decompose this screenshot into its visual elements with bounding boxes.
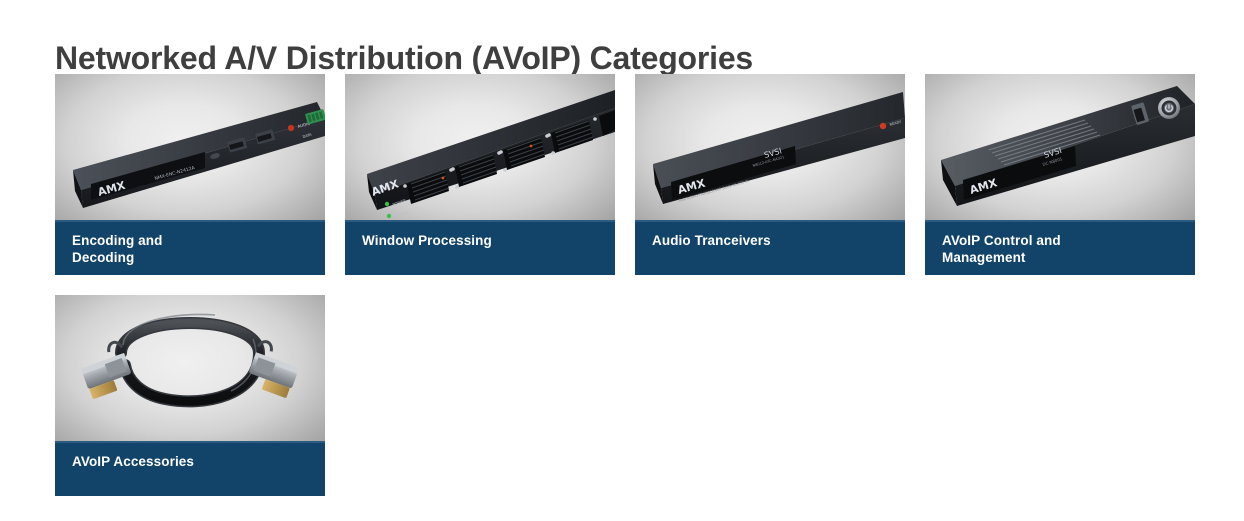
amx-svsi-audio-transceiver-rack-unit-image[interactable]: AMX SVSI SVSI AUDIO TRANSCEIVER DUAL RS-… (635, 74, 905, 220)
category-card-window-processing[interactable]: AMX POWER STATUS Window Processing (345, 74, 615, 275)
category-label: Audio Tranceivers (652, 232, 893, 249)
amx-window-processor-rack-unit-image[interactable]: AMX POWER STATUS (345, 74, 615, 220)
category-caption-encoding-decoding[interactable]: Encoding and Decoding (55, 220, 325, 275)
page-title: Networked A/V Distribution (AVoIP) Categ… (55, 38, 753, 78)
category-label: AVoIP Accessories (72, 453, 313, 470)
category-label: AVoIP Control and Management (942, 232, 1183, 266)
category-caption-audio-tranceivers[interactable]: Audio Tranceivers (635, 220, 905, 275)
category-card-avoip-accessories[interactable]: AVoIP Accessories (55, 295, 325, 496)
avoip-categories-page: Networked A/V Distribution (AVoIP) Categ… (0, 0, 1244, 521)
category-label: Encoding and Decoding (72, 232, 313, 266)
category-card-grid: AMX NMX-ENC-N2412A AUDIO (55, 74, 1195, 496)
category-caption-avoip-control-management[interactable]: AVoIP Control and Management (925, 220, 1195, 275)
category-card-audio-tranceivers[interactable]: AMX SVSI SVSI AUDIO TRANSCEIVER DUAL RS-… (635, 74, 905, 275)
category-label: Window Processing (362, 232, 603, 249)
amx-svsi-avoip-controller-image[interactable]: AMX SVSI DC-N8001 (925, 74, 1195, 220)
sfp-direct-attach-copper-cable-image[interactable] (55, 295, 325, 441)
svg-text:STATUS: STATUS (394, 209, 410, 219)
amx-encoder-decoder-rack-unit-image[interactable]: AMX NMX-ENC-N2412A AUDIO (55, 74, 325, 220)
category-caption-avoip-accessories[interactable]: AVoIP Accessories (55, 441, 325, 496)
category-card-avoip-control-management[interactable]: AMX SVSI DC-N8001 AVoIP Control and Mana… (925, 74, 1195, 275)
category-caption-window-processing[interactable]: Window Processing (345, 220, 615, 275)
category-card-encoding-decoding[interactable]: AMX NMX-ENC-N2412A AUDIO (55, 74, 325, 275)
